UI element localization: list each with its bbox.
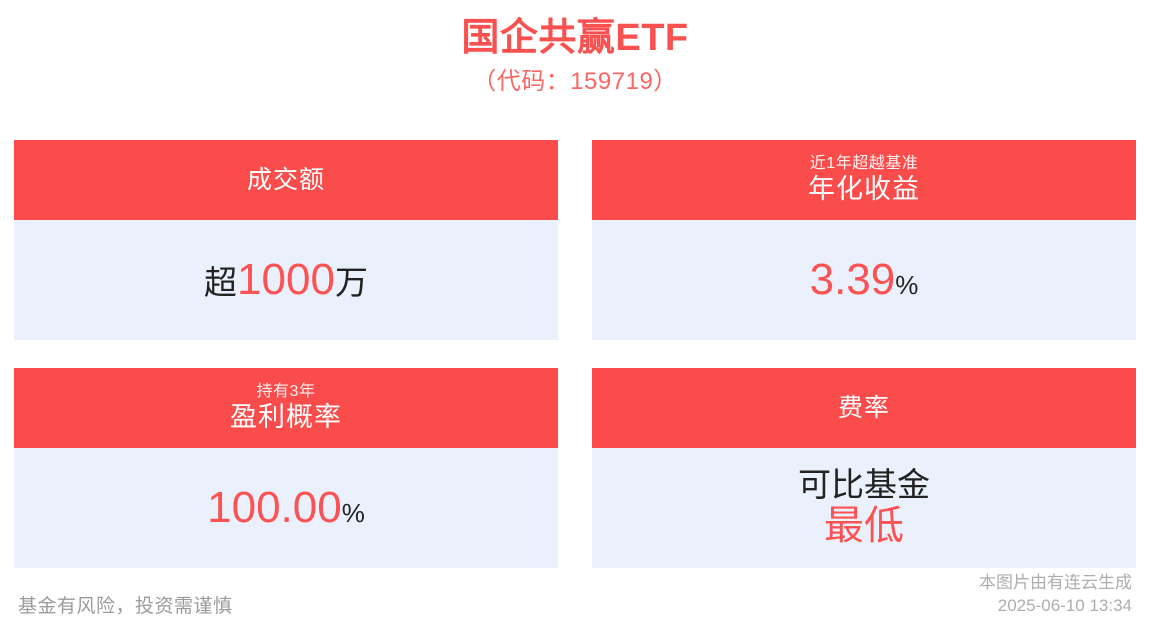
card-eyebrow-annualized-return: 近1年超越基准 <box>810 155 918 173</box>
value-unit: 万 <box>335 265 368 301</box>
value-prefix: 超 <box>204 265 237 301</box>
card-title-annualized-return: 年化收益 <box>808 174 920 205</box>
page-subtitle-code: （代码：159719） <box>0 65 1150 99</box>
page-title: 国企共赢ETF <box>0 16 1150 61</box>
card-title-turnover: 成交额 <box>247 166 325 195</box>
card-value-fee-rate: 可比基金 最低 <box>798 467 930 549</box>
card-header-fee-rate: 费率 <box>592 368 1136 448</box>
card-value-turnover: 超 1000 万 <box>204 256 368 304</box>
card-body-turnover: 超 1000 万 <box>14 220 558 340</box>
page-header: 国企共赢ETF （代码：159719） <box>0 0 1150 98</box>
card-header-profit-probability: 持有3年 盈利概率 <box>14 368 558 448</box>
value-number: 3.39 <box>810 256 896 304</box>
metric-card-turnover: 成交额 超 1000 万 <box>14 140 558 340</box>
card-title-fee-rate: 费率 <box>838 394 890 423</box>
metric-card-grid: 成交额 超 1000 万 近1年超越基准 年化收益 3.39 % 持有3年 盈利… <box>14 140 1136 568</box>
card-header-turnover: 成交额 <box>14 140 558 220</box>
card-value-profit-probability: 100.00 % <box>207 484 365 532</box>
generation-timestamp: 2025-06-10 13:34 <box>979 595 1132 618</box>
card-body-annualized-return: 3.39 % <box>592 220 1136 340</box>
card-body-fee-rate: 可比基金 最低 <box>592 448 1136 568</box>
metric-card-fee-rate: 费率 可比基金 最低 <box>592 368 1136 568</box>
value-number: 1000 <box>237 256 335 304</box>
value-comparison-label: 可比基金 <box>798 467 930 504</box>
card-eyebrow-profit-probability: 持有3年 <box>257 383 316 401</box>
value-lowest-label: 最低 <box>824 504 904 549</box>
card-title-profit-probability: 盈利概率 <box>230 402 342 433</box>
card-body-profit-probability: 100.00 % <box>14 448 558 568</box>
risk-disclaimer: 基金有风险，投资需谨慎 <box>18 591 233 618</box>
value-number: 100.00 <box>207 484 342 532</box>
card-header-annualized-return: 近1年超越基准 年化收益 <box>592 140 1136 220</box>
value-percent-sign: % <box>342 499 365 528</box>
generator-label: 本图片由有连云生成 <box>979 572 1132 595</box>
value-percent-sign: % <box>895 271 918 300</box>
generation-credit: 本图片由有连云生成 2025-06-10 13:34 <box>979 572 1132 618</box>
card-value-annualized-return: 3.39 % <box>810 256 919 304</box>
metric-card-annualized-return: 近1年超越基准 年化收益 3.39 % <box>592 140 1136 340</box>
metric-card-profit-probability: 持有3年 盈利概率 100.00 % <box>14 368 558 568</box>
page-footer: 基金有风险，投资需谨慎 本图片由有连云生成 2025-06-10 13:34 <box>0 568 1150 624</box>
